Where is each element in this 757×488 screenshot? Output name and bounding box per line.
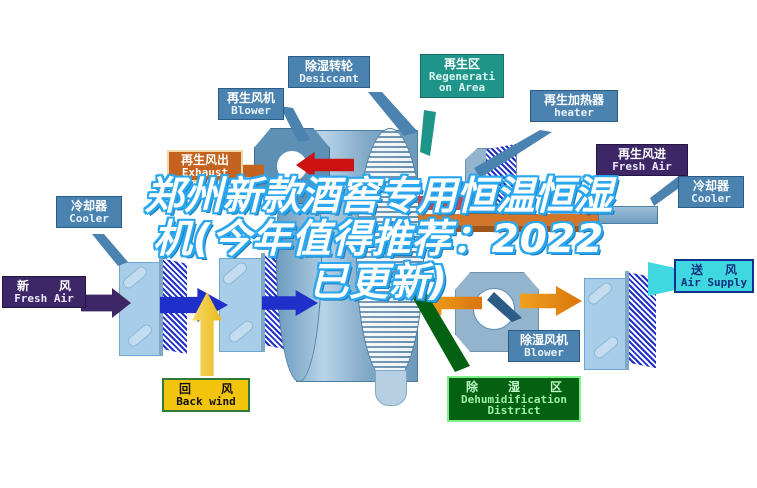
label-regen-heater-cn: 再生加热器 — [535, 94, 613, 107]
label-cooler-left: 冷却器 Cooler — [56, 196, 122, 228]
label-fresh-air-cn2: 风 — [59, 279, 71, 293]
label-dehumidification-district: 除湿区 Dehumidification District — [447, 376, 581, 422]
label-regen-heater: 再生加热器 heater — [530, 90, 618, 122]
label-back-wind: 回风 Back wind — [162, 378, 250, 412]
label-exhaust-en: Exhaust — [173, 167, 237, 179]
label-back-wind-cn1: 回 — [179, 382, 191, 396]
label-cooler-right-en: Cooler — [683, 193, 739, 205]
label-dehum-blower: 除湿风机 Blower — [508, 330, 580, 362]
label-air-supply-en: Air Supply — [680, 277, 748, 289]
label-fresh-air-en: Fresh Air — [7, 293, 81, 305]
label-regen-blower-cn: 再生风机 — [223, 92, 279, 105]
label-back-wind-cn: 回风 — [168, 383, 244, 396]
label-desiccant-en: Desiccant — [293, 73, 365, 85]
machine-graphic — [0, 0, 757, 488]
label-dehum-district-cn2: 湿 — [508, 380, 520, 394]
label-dehum-district-cn3: 区 — [550, 380, 562, 394]
label-desiccant: 除湿转轮 Desiccant — [288, 56, 370, 88]
label-dehum-district-cn1: 除 — [466, 380, 478, 394]
label-air-supply-cn: 送风 — [680, 264, 748, 277]
label-fresh-air-cn1: 新 — [17, 279, 29, 293]
label-dehum-blower-cn: 除湿风机 — [513, 334, 575, 347]
label-fresh-air-cn: 新风 — [7, 280, 81, 293]
label-dehum-district-en2: District — [453, 405, 575, 417]
label-dehum-blower-en: Blower — [513, 347, 575, 359]
label-dehum-district-cn: 除湿区 — [453, 381, 575, 394]
label-regen-fresh-air-en: Fresh Air — [601, 161, 683, 173]
label-regen-blower-en: Blower — [223, 105, 279, 117]
label-air-supply-cn2: 风 — [725, 263, 737, 277]
label-regeneration-area-en2: on Area — [425, 82, 499, 94]
label-cooler-left-cn: 冷却器 — [61, 200, 117, 213]
label-regen-fresh-air-cn: 再生风进 — [601, 148, 683, 161]
label-exhaust: 再生风出 Exhaust — [167, 150, 243, 182]
label-fresh-air: 新风 Fresh Air — [2, 276, 86, 308]
label-cooler-right: 冷却器 Cooler — [678, 176, 744, 208]
label-regeneration-area: 再生区 Regenerati on Area — [420, 54, 504, 98]
label-air-supply-cn1: 送 — [691, 263, 703, 277]
label-regen-blower: 再生风机 Blower — [218, 88, 284, 120]
diagram-canvas: 除湿转轮 Desiccant 再生风机 Blower 再生区 Regenerat… — [0, 0, 757, 488]
label-regen-heater-en: heater — [535, 107, 613, 119]
label-regen-fresh-air: 再生风进 Fresh Air — [596, 144, 688, 176]
label-cooler-left-en: Cooler — [61, 213, 117, 225]
label-desiccant-cn: 除湿转轮 — [293, 60, 365, 73]
callout-leaders — [0, 0, 757, 488]
label-back-wind-en: Back wind — [168, 396, 244, 408]
label-air-supply: 送风 Air Supply — [674, 259, 754, 293]
label-back-wind-cn2: 风 — [221, 382, 233, 396]
label-regeneration-area-cn: 再生区 — [425, 58, 499, 71]
label-cooler-right-cn: 冷却器 — [683, 180, 739, 193]
label-exhaust-cn: 再生风出 — [173, 154, 237, 167]
